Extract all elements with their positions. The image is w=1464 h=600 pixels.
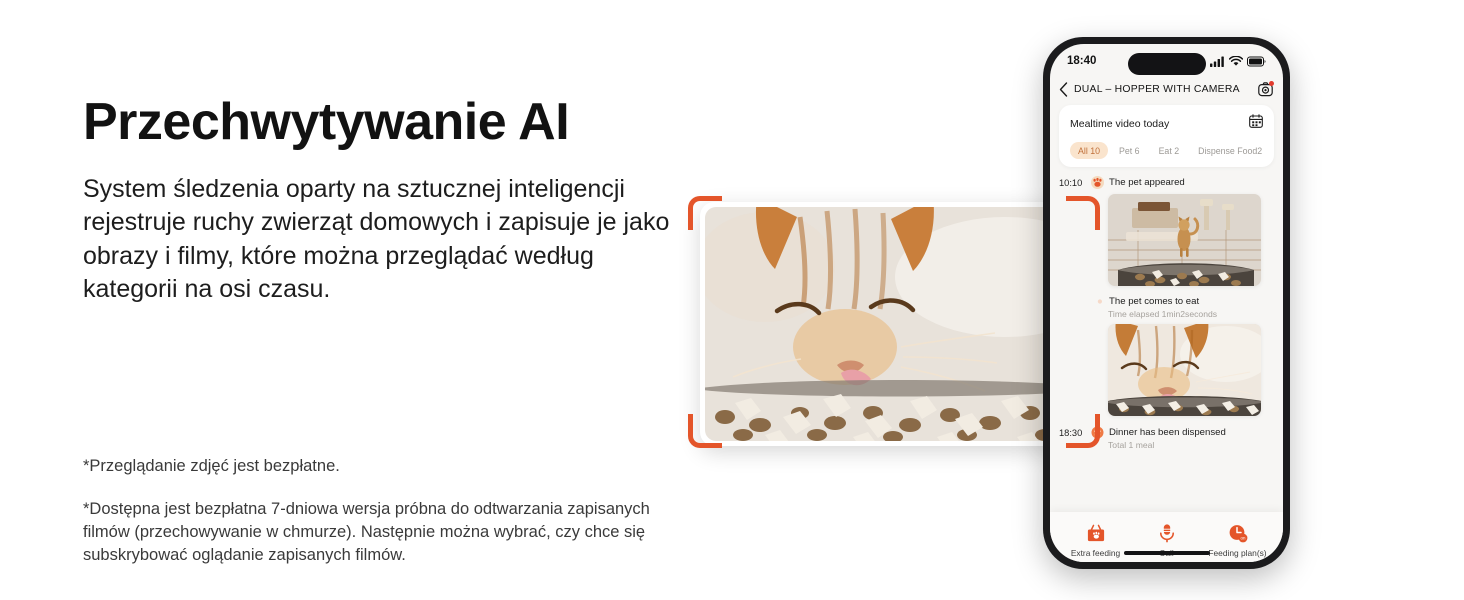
back-button[interactable] [1059,82,1068,97]
battery-icon [1247,56,1266,67]
feeding-plan-icon: on [1227,522,1249,544]
timeline-thumbnail-pet-appeared[interactable] [1108,194,1261,286]
timeline-item-subtext: Time elapsed 1min2seconds [1108,309,1272,319]
chip-pet[interactable]: Pet 6 [1111,142,1148,159]
paw-icon [1091,176,1104,189]
svg-text:on: on [1240,536,1245,541]
chip-all[interactable]: All 10 [1070,142,1108,159]
hero-photo-cat-eating [705,207,1093,441]
mealtime-card-header: Mealtime video today [1070,114,1263,133]
mealtime-card: Mealtime video today [1059,105,1274,167]
extra-feeding-icon [1085,522,1107,544]
mealtime-card-title: Mealtime video today [1070,118,1169,130]
camera-button[interactable] [1258,82,1273,97]
dynamic-island [1128,53,1206,75]
promo-banner: Przechwytywanie AI System śledzenia opar… [0,0,1464,600]
timeline-item[interactable]: 10:10 The pet appeared [1059,176,1272,286]
footnote-photos: *Przeglądanie zdjęć jest bezpłatne. [83,455,663,478]
focus-bracket-bottom-left-icon [688,414,722,448]
focus-bracket-bottom-right-icon [1066,414,1100,448]
subcopy-text: System śledzenia oparty na sztucznej int… [83,173,673,306]
focus-bracket-top-left-icon [688,196,722,230]
app-title: DUAL – HOPPER WITH CAMERA [1074,84,1252,95]
extra-feeding-label: Extra feeding [1071,548,1120,558]
timeline-item-subtext: Total 1 meal [1108,440,1272,450]
extra-feeding-button[interactable]: Extra feeding [1060,522,1131,558]
focus-bracket-top-right-icon [1066,196,1100,230]
timeline-item-header: 10:10 The pet appeared [1059,176,1272,189]
app-header: DUAL – HOPPER WITH CAMERA [1050,78,1283,105]
feeding-plan-label: Feeding plan(s) [1208,548,1266,558]
timeline-item-label: The pet appeared [1109,177,1185,188]
calendar-icon [1249,114,1263,128]
copy-block: Przechwytywanie AI System śledzenia opar… [83,94,683,306]
chevron-left-icon [1059,82,1068,97]
timeline-item[interactable]: The pet comes to eat Time elapsed 1min2s… [1059,295,1272,416]
feeding-plan-button[interactable]: on Feeding plan(s) [1202,522,1273,558]
hero-photo-group [688,196,1100,448]
wifi-icon [1229,56,1243,67]
timeline-item-label: The pet comes to eat [1109,296,1199,307]
home-indicator [1124,551,1210,555]
eating-icon [1091,295,1104,308]
calendar-button[interactable] [1249,114,1263,133]
timeline-thumbnail-pet-eating[interactable] [1108,324,1261,416]
status-icons [1210,56,1266,67]
timeline-item-header: The pet comes to eat [1059,295,1272,308]
chip-eat[interactable]: Eat 2 [1151,142,1188,159]
page-title: Przechwytywanie AI [83,94,683,151]
signal-icon [1210,56,1225,67]
phone-mockup: 18:40 [1043,37,1290,569]
microphone-icon [1156,522,1178,544]
footnotes-block: *Przeglądanie zdjęć jest bezpłatne. *Dos… [83,455,663,567]
phone-screen: 18:40 [1050,44,1283,562]
status-time: 18:40 [1067,55,1096,67]
filter-chips: All 10 Pet 6 Eat 2 Dispense Food2 [1070,142,1263,159]
timeline-item-time: 10:10 [1059,178,1086,188]
notification-dot [1269,81,1274,86]
timeline-item-label: Dinner has been dispensed [1109,427,1226,438]
footnote-trial: *Dostępna jest bezpłatna 7-dniowa wersja… [83,498,663,567]
chip-dispense[interactable]: Dispense Food2 [1190,142,1270,159]
